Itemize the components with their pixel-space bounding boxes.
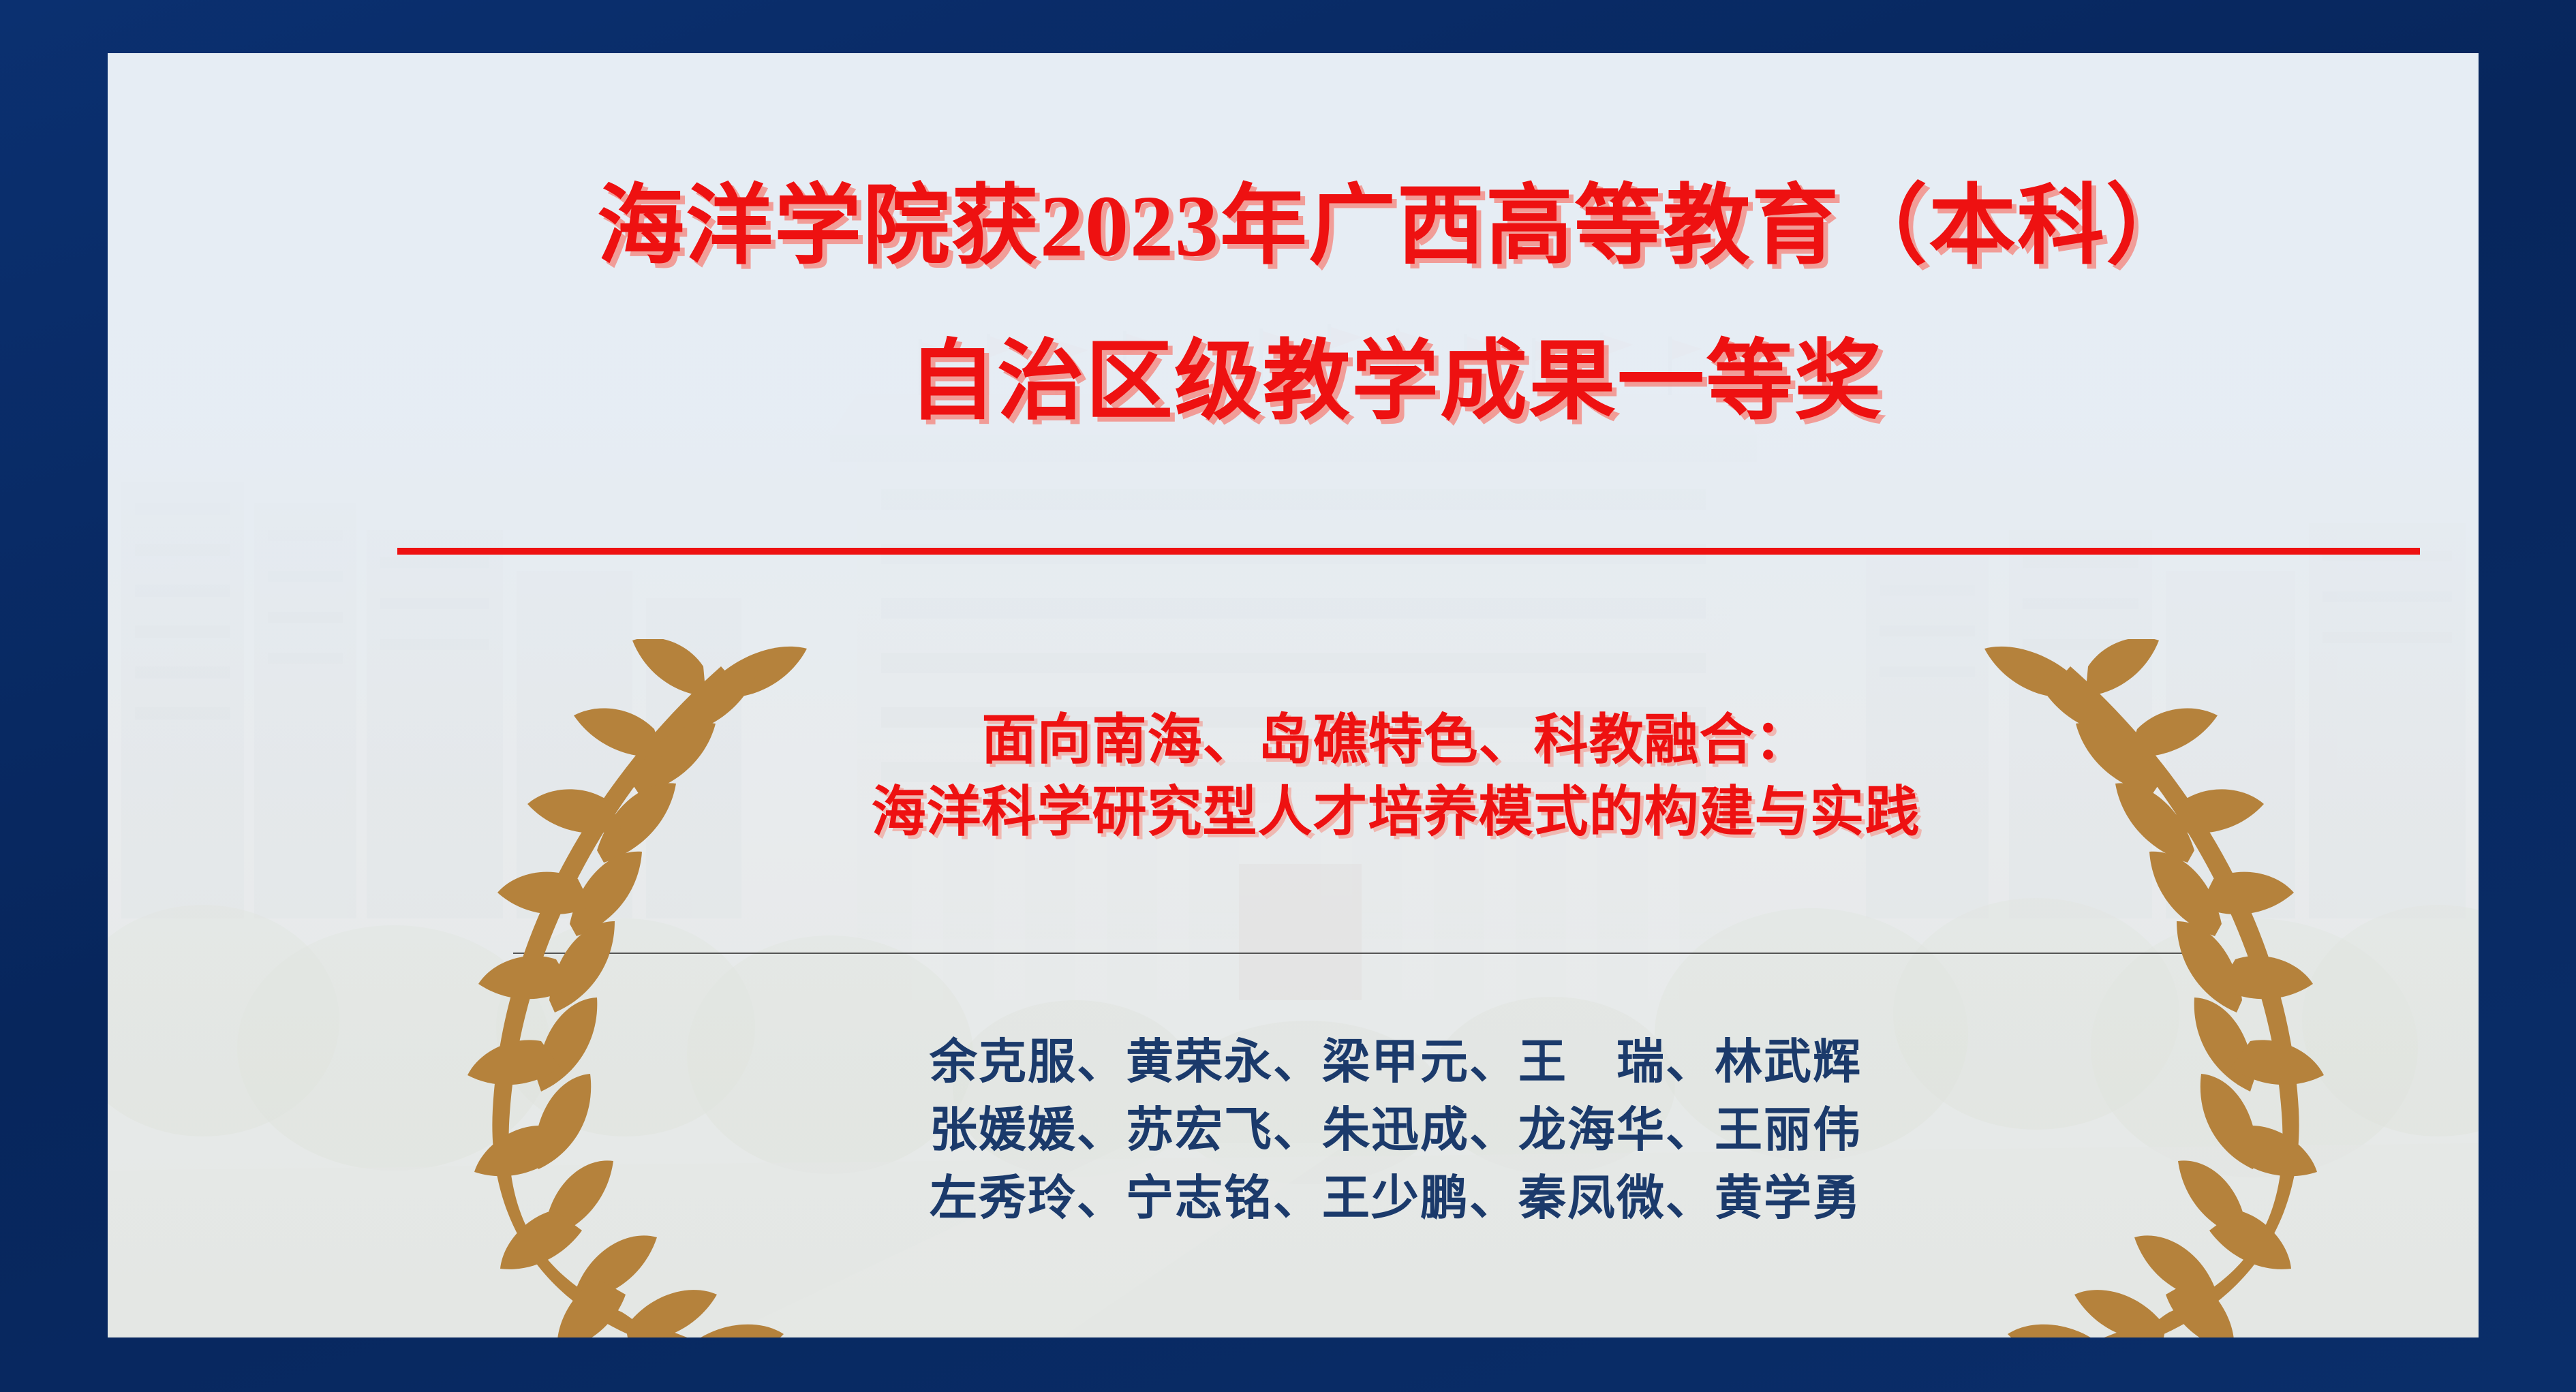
author-names-line-3: 左秀玲、宁志铭、王少鹏、秦凤微、黄学勇 — [108, 1165, 2479, 1233]
author-names-block: 余克服、黄荣永、梁甲元、王 瑞、林武辉 张媛媛、苏宏飞、朱迅成、龙海华、王丽伟 … — [108, 1029, 2479, 1233]
slide-inner-panel: 海洋学院获2023年广西高等教育（本科） 自治区级教学成果一等奖 面向南海、岛礁… — [108, 53, 2479, 1337]
subtitle-block: 面向南海、岛礁特色、科教融合： 海洋科学研究型人才培养模式的构建与实践 — [108, 704, 2479, 848]
title-divider-rule — [397, 548, 2420, 555]
headline-line-2: 自治区级教学成果一等奖 — [108, 338, 2479, 425]
headline-line-1: 海洋学院获2023年广西高等教育（本科） — [108, 183, 2479, 270]
subtitle-line-1: 面向南海、岛礁特色、科教融合： — [108, 704, 2479, 776]
subtitle-line-2: 海洋科学研究型人才培养模式的构建与实践 — [108, 776, 2479, 848]
author-names-line-1: 余克服、黄荣永、梁甲元、王 瑞、林武辉 — [108, 1029, 2479, 1097]
award-slide: 海洋学院获2023年广西高等教育（本科） 自治区级教学成果一等奖 面向南海、岛礁… — [0, 0, 2576, 1392]
headline-block: 海洋学院获2023年广西高等教育（本科） 自治区级教学成果一等奖 — [108, 183, 2479, 425]
author-names-line-2: 张媛媛、苏宏飞、朱迅成、龙海华、王丽伟 — [108, 1097, 2479, 1165]
